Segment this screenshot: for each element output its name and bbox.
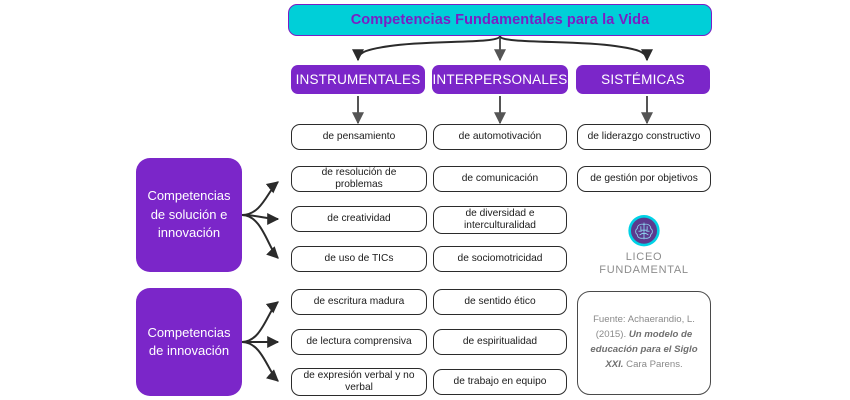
leaf-label: de automotivación xyxy=(459,131,542,143)
leaf-label: de lectura comprensiva xyxy=(306,336,411,348)
leaf-sistemicas-1[interactable]: de liderazgo constructivo xyxy=(577,124,711,150)
category-instrumentales[interactable]: INSTRUMENTALES xyxy=(291,65,425,94)
leaf-instrumentales-1[interactable]: de pensamiento xyxy=(291,124,427,150)
category-sistemicas[interactable]: SISTÉMICAS xyxy=(576,65,710,94)
root-title-box: Competencias Fundamentales para la Vida xyxy=(288,4,712,36)
liceo-fundamental-logo: LICEO FUNDAMENTAL xyxy=(583,214,705,276)
root-to-category-arrows xyxy=(358,36,647,60)
leaf-interpersonales-5[interactable]: de sentido ético xyxy=(433,289,567,315)
leaf-interpersonales-4[interactable]: de sociomotricidad xyxy=(433,246,567,272)
leaf-instrumentales-3[interactable]: de creatividad xyxy=(291,206,427,232)
category-label: INSTRUMENTALES xyxy=(296,72,421,87)
root-title-label: Competencias Fundamentales para la Vida xyxy=(351,12,650,28)
citation-text: Fuente: Achaerandio, L. (2015). Un model… xyxy=(585,313,703,372)
group-label: Competencias de solución e innovación xyxy=(142,187,236,242)
leaf-instrumentales-5[interactable]: de escritura madura xyxy=(291,289,427,315)
diagram-canvas: Competencias Fundamentales para la Vida … xyxy=(0,0,850,400)
group-label: Competencias de innovación xyxy=(142,324,236,361)
group-box-solucion-innovacion[interactable]: Competencias de solución e innovación xyxy=(136,158,242,272)
category-interpersonales[interactable]: INTERPERSONALES xyxy=(432,65,568,94)
leaf-instrumentales-7[interactable]: de expresión verbal y no verbal xyxy=(291,368,427,396)
category-to-leaf-arrows xyxy=(358,96,647,123)
logo-line-2: FUNDAMENTAL xyxy=(599,264,688,276)
leaf-label: de comunicación xyxy=(462,173,538,185)
logo-text-block: LICEO FUNDAMENTAL xyxy=(599,251,688,276)
logo-line-1: LICEO xyxy=(599,251,688,263)
group-box-innovacion[interactable]: Competencias de innovación xyxy=(136,288,242,396)
leaf-label: de sentido ético xyxy=(464,296,535,308)
leaf-label: de trabajo en equipo xyxy=(454,376,547,388)
leaf-instrumentales-2[interactable]: de resolución de problemas xyxy=(291,166,427,192)
category-label: SISTÉMICAS xyxy=(601,72,685,87)
leaf-instrumentales-6[interactable]: de lectura comprensiva xyxy=(291,329,427,355)
citation-box: Fuente: Achaerandio, L. (2015). Un model… xyxy=(577,291,711,395)
leaf-instrumentales-4[interactable]: de uso de TICs xyxy=(291,246,427,272)
leaf-interpersonales-6[interactable]: de espiritualidad xyxy=(433,329,567,355)
leaf-interpersonales-7[interactable]: de trabajo en equipo xyxy=(433,369,567,395)
category-label: INTERPERSONALES xyxy=(432,72,567,87)
leaf-label: de pensamiento xyxy=(323,131,396,143)
leaf-label: de expresión verbal y no verbal xyxy=(297,370,421,395)
leaf-interpersonales-2[interactable]: de comunicación xyxy=(433,166,567,192)
citation-part-2: Cara Parens. xyxy=(623,359,682,370)
leaf-sistemicas-2[interactable]: de gestión por objetivos xyxy=(577,166,711,192)
leaf-interpersonales-1[interactable]: de automotivación xyxy=(433,124,567,150)
leaf-label: de resolución de problemas xyxy=(297,167,421,192)
leaf-label: de liderazgo constructivo xyxy=(588,131,701,143)
leaf-label: de uso de TICs xyxy=(325,253,394,265)
leaf-label: de diversidad e interculturalidad xyxy=(439,208,561,233)
group-one-fan-arrows xyxy=(242,182,278,258)
leaf-label: de escritura madura xyxy=(314,296,405,308)
leaf-label: de creatividad xyxy=(327,213,390,225)
group-two-fan-arrows xyxy=(242,302,278,381)
leaf-label: de espiritualidad xyxy=(463,336,537,348)
leaf-label: de sociomotricidad xyxy=(458,253,543,265)
leaf-label: de gestión por objetivos xyxy=(590,173,698,185)
leaf-interpersonales-3[interactable]: de diversidad e interculturalidad xyxy=(433,206,567,234)
brain-icon xyxy=(624,214,664,247)
